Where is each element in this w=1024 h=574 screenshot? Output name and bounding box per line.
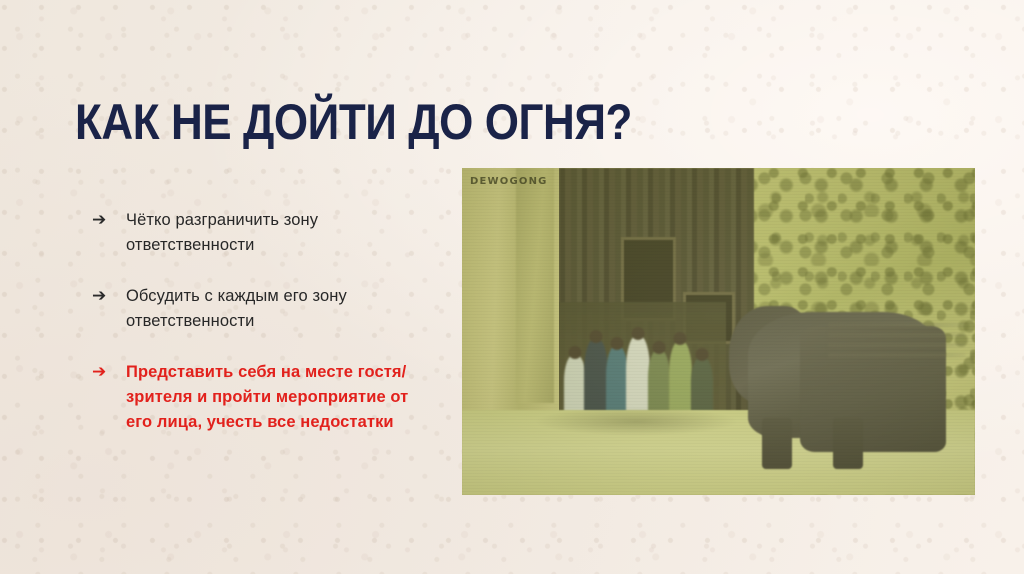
child-head — [568, 346, 581, 359]
photo-scene — [462, 168, 975, 495]
bullet-list: ➔ Чётко разграничить зону ответственност… — [92, 208, 432, 461]
elephant — [729, 299, 965, 469]
elephant-leg — [833, 418, 864, 469]
left-pillar-inner — [516, 168, 554, 403]
zoo-photo: DEWOGONG — [462, 168, 975, 495]
list-item-highlighted: ➔ Представить себя на месте гостя/зрител… — [92, 360, 432, 435]
list-item-label: Представить себя на месте гостя/зрителя … — [126, 360, 432, 435]
list-item-label: Обсудить с каждым его зону ответственнос… — [126, 284, 432, 334]
slide-canvas: КАК НЕ ДОЙТИ ДО ОГНЯ? ➔ Чётко разграничи… — [0, 0, 1024, 574]
list-item: ➔ Чётко разграничить зону ответственност… — [92, 208, 432, 258]
child-figure — [669, 341, 693, 417]
child-head — [589, 330, 602, 343]
arrow-right-icon: ➔ — [92, 360, 126, 385]
motion-blur-streak — [828, 323, 965, 327]
motion-blur-streak — [828, 333, 965, 337]
arrow-right-icon: ➔ — [92, 208, 126, 233]
list-item-label: Чётко разграничить зону ответственности — [126, 208, 432, 258]
child-head — [610, 337, 623, 350]
viewing-window — [557, 302, 726, 416]
child-head — [632, 327, 645, 340]
arrow-right-icon: ➔ — [92, 284, 126, 309]
child-head — [695, 348, 708, 361]
page-title: КАК НЕ ДОЙТИ ДО ОГНЯ? — [75, 96, 632, 149]
elephant-leg — [762, 418, 793, 469]
floor-shadow — [534, 407, 739, 436]
child-figure — [626, 336, 650, 416]
photo-watermark: DEWOGONG — [470, 176, 548, 187]
list-item: ➔ Обсудить с каждым его зону ответственн… — [92, 284, 432, 334]
motion-blur-streak — [828, 343, 965, 347]
child-figure — [584, 339, 608, 417]
child-head — [674, 332, 687, 345]
child-head — [653, 341, 666, 354]
motion-blur-streak — [828, 353, 965, 357]
